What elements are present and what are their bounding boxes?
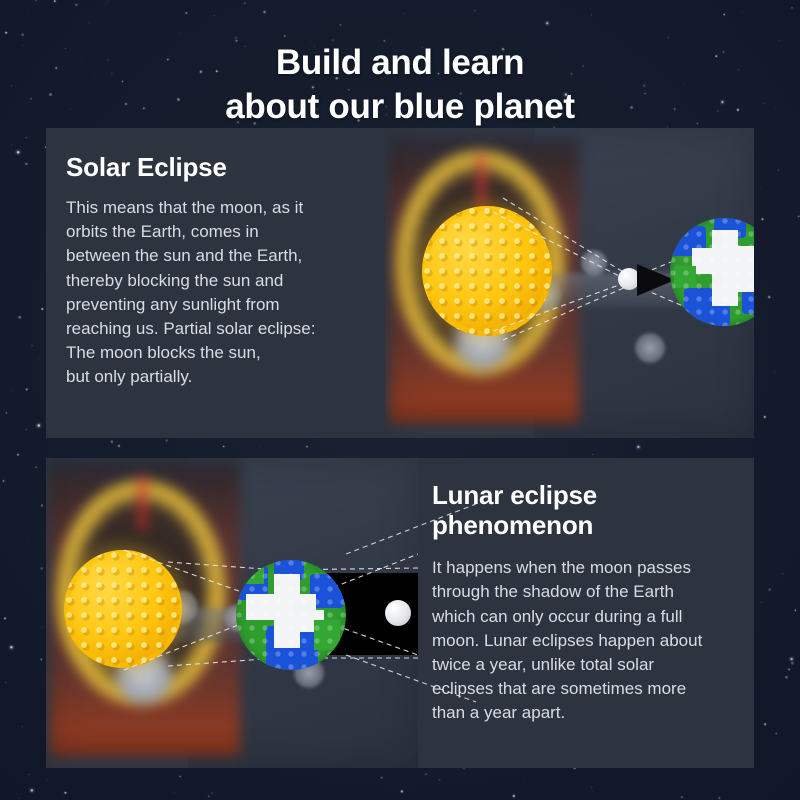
earth-globe xyxy=(236,560,346,670)
solar-eclipse-body: This means that the moon, as it orbits t… xyxy=(66,196,365,389)
page-title-line-1: Build and learn xyxy=(0,41,800,84)
solar-eclipse-text-column: Solar Eclipse This means that the moon, … xyxy=(46,128,385,438)
lunar-eclipse-text-column: Lunar eclipse phenomenon It happens when… xyxy=(418,458,754,768)
solar-eclipse-image xyxy=(385,128,754,438)
lego-box-red-pointer xyxy=(139,476,146,530)
earth-cloud-patch xyxy=(736,246,754,292)
sun-sphere xyxy=(422,206,552,336)
sun-rim xyxy=(422,206,552,336)
sun-rim xyxy=(64,550,182,668)
page-title-line-2: about our blue planet xyxy=(0,85,800,128)
lunar-eclipse-image xyxy=(46,458,418,768)
lunar-eclipse-body: It happens when the moon passes through … xyxy=(432,556,734,725)
lego-box-red-pointer xyxy=(478,156,485,210)
earth-cloud-band-v xyxy=(712,230,738,306)
sun-sphere xyxy=(64,550,182,668)
solar-model-gear-b xyxy=(581,250,607,276)
earth-land-patch-a xyxy=(314,620,340,650)
page-title: Build and learn about our blue planet xyxy=(0,41,800,128)
panel-solar-eclipse: Solar Eclipse This means that the moon, … xyxy=(46,128,754,438)
solar-model-gear-c xyxy=(635,333,665,363)
earth-land-patch-b xyxy=(238,562,264,584)
lunar-eclipse-heading: Lunar eclipse phenomenon xyxy=(432,480,734,540)
moon-sphere xyxy=(385,600,411,626)
panel-lunar-eclipse: Lunar eclipse phenomenon It happens when… xyxy=(46,458,754,768)
solar-eclipse-heading: Solar Eclipse xyxy=(66,152,365,182)
earth-land-patch-a xyxy=(674,266,696,288)
